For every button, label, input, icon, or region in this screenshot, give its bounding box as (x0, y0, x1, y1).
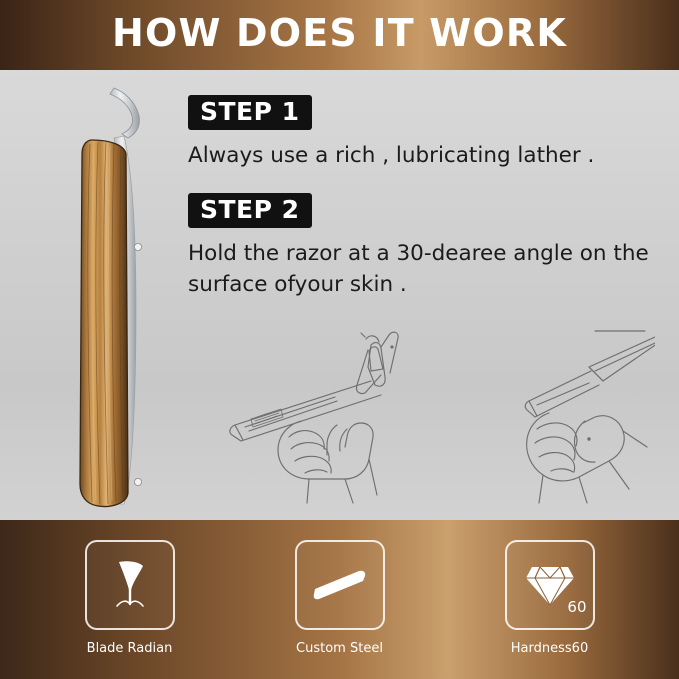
blade-radian-icon (105, 558, 155, 612)
handle-pin-bottom (134, 478, 141, 485)
poster-page: HOW DOES IT WORK (0, 0, 679, 679)
features-banner: Blade Radian Custom Steel (0, 520, 679, 679)
feature-hardness: 60 Hardness60 (490, 540, 610, 656)
steps-list: STEP 1 Always use a rich , lubricating l… (188, 95, 658, 301)
feature-hardness-label: Hardness60 (511, 641, 588, 656)
blade-radian-icon-box (85, 540, 175, 630)
step-2-text: Hold the razor at a 30-dearee angle on t… (188, 238, 650, 300)
header-banner: HOW DOES IT WORK (0, 0, 679, 70)
hand-shaving-with-razor-icon (525, 331, 655, 503)
custom-steel-icon (311, 565, 369, 605)
instructions-panel: STEP 1 Always use a rich , lubricating l… (0, 70, 679, 520)
hardness-badge: 60 (567, 598, 586, 616)
hand-holding-straight-razor-open-icon (230, 332, 398, 503)
feature-blade-radian-label: Blade Radian (87, 641, 173, 656)
feature-custom-steel: Custom Steel (280, 540, 400, 656)
diamond-hardness-icon-box: 60 (505, 540, 595, 630)
feature-blade-radian: Blade Radian (70, 540, 190, 656)
illustration-group (185, 325, 655, 510)
product-image (40, 80, 180, 510)
hand-illustrations (185, 325, 655, 510)
step-1-badge: STEP 1 (188, 95, 312, 130)
wooden-handle-razor-icon (40, 80, 180, 510)
step-1-text: Always use a rich , lubricating lather . (188, 140, 650, 171)
page-title: HOW DOES IT WORK (112, 14, 567, 56)
step-1: STEP 1 Always use a rich , lubricating l… (188, 95, 658, 171)
feature-list: Blade Radian Custom Steel (0, 540, 679, 656)
custom-steel-icon-box (295, 540, 385, 630)
handle-pin-top (134, 243, 141, 250)
step-2-badge: STEP 2 (188, 193, 312, 228)
feature-custom-steel-label: Custom Steel (296, 641, 383, 656)
step-2: STEP 2 Hold the razor at a 30-dearee ang… (188, 193, 658, 300)
